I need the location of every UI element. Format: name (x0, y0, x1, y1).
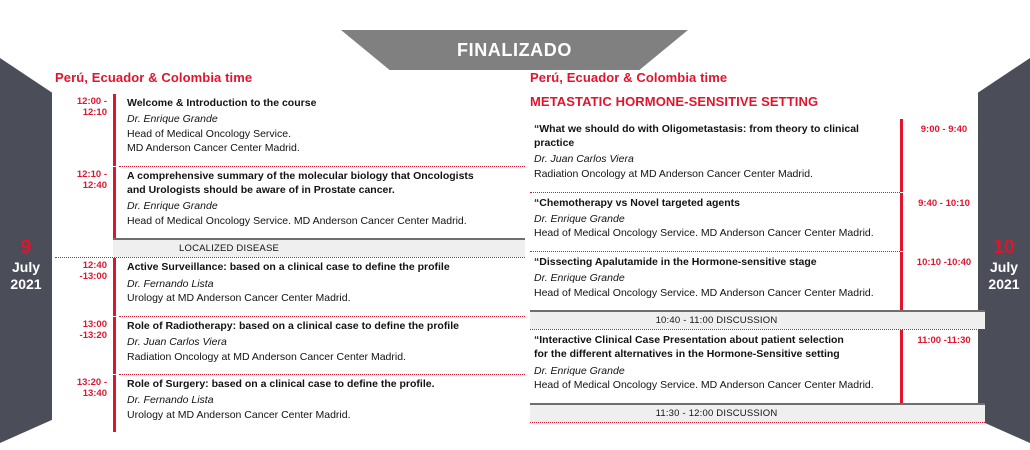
session-time: 12:10 - 12:40 (55, 167, 113, 191)
discussion-strip: 10:40 - 11:00 DISCUSSION (530, 310, 985, 329)
date-tab-right-year: 2021 (988, 276, 1019, 293)
session-time: 13:20 - 13:40 (55, 375, 113, 399)
session-title: “Dissecting Apalutamide in the Hormone-s… (534, 255, 892, 269)
session-title: “Interactive Clinical Case Presentation … (534, 333, 892, 347)
discussion-strip: 11:30 - 12:00 DISCUSSION (530, 403, 985, 422)
session-affiliation: Head of Medical Oncology Service. MD And… (127, 214, 521, 228)
section-strip-localized-disease: LOCALIZED DISEASE (113, 238, 525, 257)
session-row: 12:10 - 12:40 A comprehensive summary of… (55, 167, 525, 239)
session-speaker: Dr. Fernando Lista (127, 277, 521, 292)
session-body: “Dissecting Apalutamide in the Hormone-s… (530, 252, 900, 310)
session-speaker: Dr. Enrique Grande (534, 271, 892, 286)
session-row: 13:00 -13:20 Role of Radiotherapy: based… (55, 317, 525, 374)
session-body: Role of Surgery: based on a clinical cas… (116, 375, 525, 432)
session-speaker: Dr. Enrique Grande (534, 212, 892, 227)
session-speaker: Dr. Juan Carlos Viera (534, 152, 892, 167)
session-affiliation: Head of Medical Oncology Service. MD And… (534, 378, 892, 392)
agenda-column-day9: Perú, Ecuador & Colombia time 12:00 - 12… (55, 70, 525, 432)
session-time: 11:00 -11:30 (903, 330, 985, 346)
session-title: “What we should do with Oligometastasis:… (534, 122, 892, 150)
session-affiliation: Head of Medical Oncology Service. MD And… (534, 286, 892, 300)
section-heading-metastatic: METASTATIC HORMONE-SENSITIVE SETTING (530, 94, 985, 109)
session-affiliation: Urology at MD Anderson Cancer Center Mad… (127, 291, 521, 305)
session-speaker: Dr. Enrique Grande (534, 364, 892, 379)
date-tab-right-day: 10 (993, 236, 1014, 259)
row-divider (530, 422, 985, 423)
session-title-2: for the different alternatives in the Ho… (534, 347, 892, 361)
session-affiliation: Head of Medical Oncology Service. MD And… (534, 226, 892, 240)
session-row: “Chemotherapy vs Novel targeted agents D… (530, 193, 985, 251)
session-title: Role of Surgery: based on a clinical cas… (127, 377, 521, 391)
discussion-strip-label: 10:40 - 11:00 DISCUSSION (530, 315, 985, 326)
session-row: 12:40 -13:00 Active Surveillance: based … (55, 258, 525, 315)
session-speaker: Dr. Enrique Grande (127, 199, 521, 214)
timezone-heading-right: Perú, Ecuador & Colombia time (530, 70, 985, 85)
session-affiliation: Radiation Oncology at MD Anderson Cancer… (127, 350, 521, 364)
date-tab-right-content: 10 July 2021 (978, 236, 1030, 293)
session-body: “What we should do with Oligometastasis:… (530, 119, 900, 192)
section-strip-label: LOCALIZED DISEASE (113, 243, 279, 254)
agenda-page: FINALIZADO 9 July 2021 10 July 2021 Perú… (0, 0, 1030, 450)
session-row: “Dissecting Apalutamide in the Hormone-s… (530, 252, 985, 310)
session-time: 13:00 -13:20 (55, 317, 113, 341)
session-title: A comprehensive summary of the molecular… (127, 169, 521, 183)
session-title-2: and Urologists should be aware of in Pro… (127, 183, 521, 197)
session-time: 12:00 - 12:10 (55, 94, 113, 118)
date-tab-right: 10 July 2021 (978, 58, 1030, 443)
session-title: Welcome & Introduction to the course (127, 96, 521, 110)
session-body: Role of Radiotherapy: based on a clinica… (116, 317, 525, 374)
session-body: A comprehensive summary of the molecular… (116, 167, 525, 239)
session-time: 9:40 - 10:10 (903, 193, 985, 209)
session-affiliation: Head of Medical Oncology Service. (127, 127, 521, 141)
timezone-heading-left: Perú, Ecuador & Colombia time (55, 70, 525, 85)
session-body: “Interactive Clinical Case Presentation … (530, 330, 900, 403)
date-tab-left-content: 9 July 2021 (0, 236, 52, 293)
session-affiliation: Urology at MD Anderson Cancer Center Mad… (127, 408, 521, 422)
session-title: Active Surveillance: based on a clinical… (127, 260, 521, 274)
date-tab-left: 9 July 2021 (0, 58, 52, 443)
session-row: “What we should do with Oligometastasis:… (530, 119, 985, 192)
session-body: “Chemotherapy vs Novel targeted agents D… (530, 193, 900, 251)
session-row: 13:20 - 13:40 Role of Surgery: based on … (55, 375, 525, 432)
session-time: 9:00 - 9:40 (903, 119, 985, 135)
session-title: Role of Radiotherapy: based on a clinica… (127, 319, 521, 333)
date-tab-left-year: 2021 (10, 276, 41, 293)
session-affiliation-2: MD Anderson Cancer Center Madrid. (127, 141, 521, 155)
date-tab-right-month: July (990, 259, 1018, 276)
session-speaker: Dr. Enrique Grande (127, 112, 521, 127)
session-time: 10:10 -10:40 (903, 252, 985, 268)
session-time: 12:40 -13:00 (55, 258, 113, 282)
date-tab-left-day: 9 (21, 236, 32, 259)
discussion-strip-label: 11:30 - 12:00 DISCUSSION (530, 408, 985, 419)
session-body: Active Surveillance: based on a clinical… (116, 258, 525, 315)
status-banner: FINALIZADO (341, 30, 688, 70)
status-banner-label: FINALIZADO (457, 40, 572, 61)
session-row: “Interactive Clinical Case Presentation … (530, 330, 985, 403)
agenda-column-day10: Perú, Ecuador & Colombia time METASTATIC… (530, 70, 985, 423)
session-title: “Chemotherapy vs Novel targeted agents (534, 196, 892, 210)
session-affiliation: Radiation Oncology at MD Anderson Cancer… (534, 167, 892, 181)
session-speaker: Dr. Fernando Lista (127, 393, 521, 408)
date-tab-left-month: July (12, 259, 40, 276)
session-body: Welcome & Introduction to the course Dr.… (116, 94, 525, 166)
session-row: 12:00 - 12:10 Welcome & Introduction to … (55, 94, 525, 166)
session-speaker: Dr. Juan Carlos Viera (127, 335, 521, 350)
